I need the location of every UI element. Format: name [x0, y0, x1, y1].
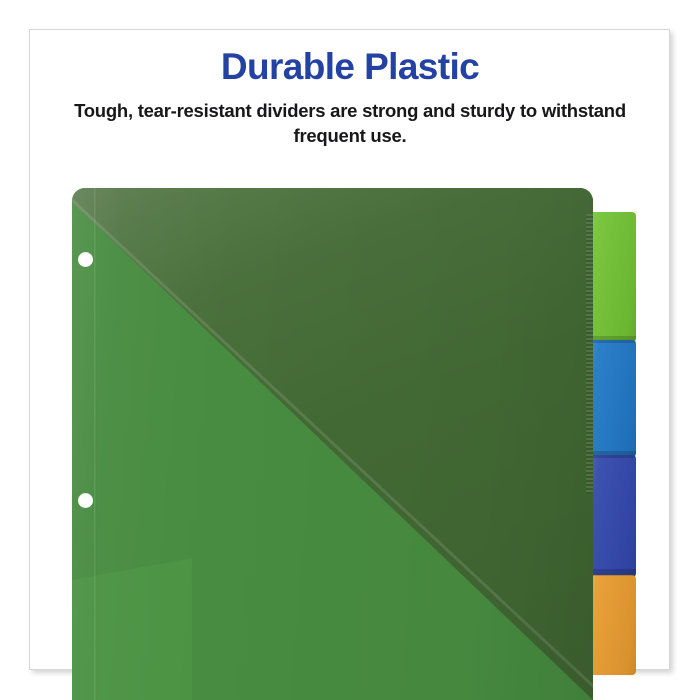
divider-body-sheen	[72, 188, 593, 700]
product-image-canvas: Durable Plastic Tough, tear-resistant di…	[0, 0, 700, 700]
divider-reinforcement-rib	[586, 214, 593, 494]
punch-hole	[78, 252, 93, 267]
divider-sheet	[72, 188, 593, 700]
punch-hole	[78, 493, 93, 508]
divider-binding-crease	[94, 188, 97, 700]
product-photo	[0, 0, 700, 700]
